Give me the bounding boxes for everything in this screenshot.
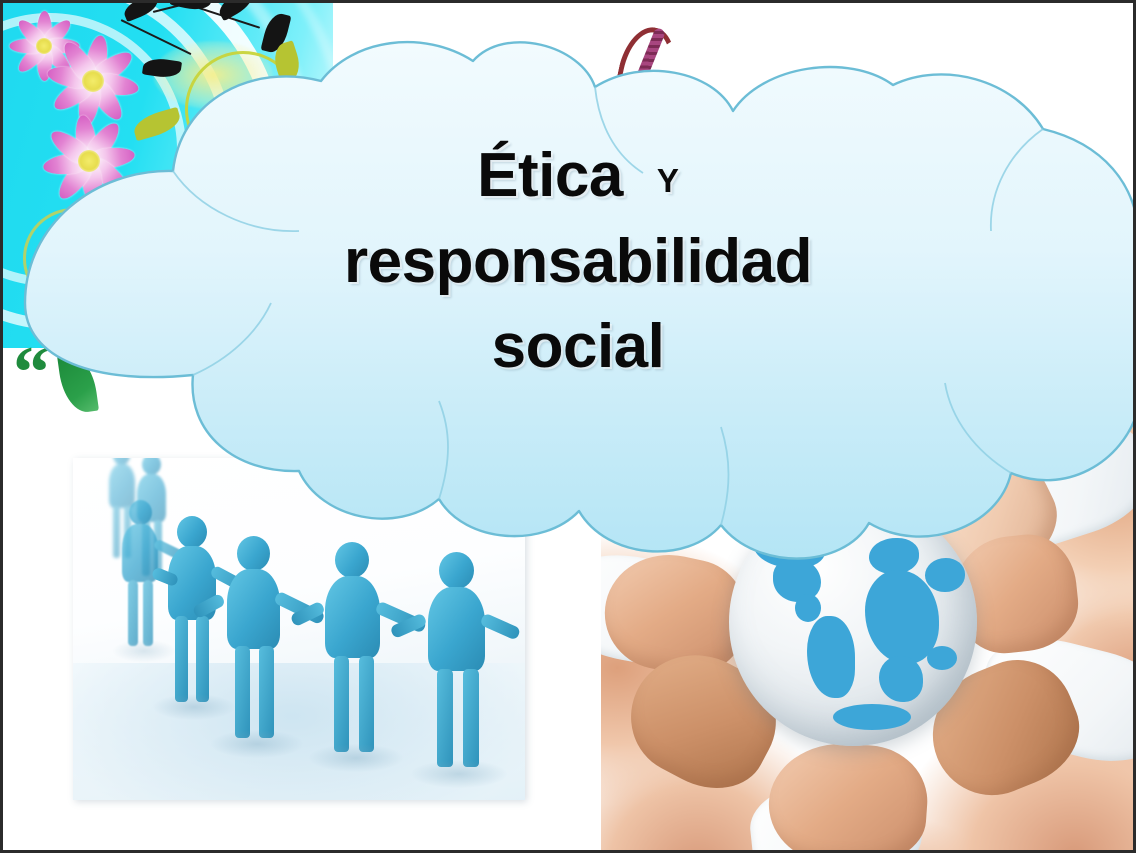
continent-greenland-cap	[849, 508, 867, 520]
continent-asia	[925, 558, 965, 592]
pink-flower-3	[43, 115, 135, 207]
sprig-dot-1	[617, 83, 626, 92]
continent-antarctica	[833, 704, 911, 730]
continent-south-america	[807, 616, 855, 698]
title-conjunction: Y	[657, 162, 679, 199]
title-line-1: ÉticaY	[173, 143, 983, 209]
green-quote-marks: “	[13, 343, 99, 439]
continent-africa-south	[879, 656, 923, 702]
page-title: ÉticaY responsabilidad social	[173, 143, 983, 380]
continent-central-america	[795, 594, 821, 622]
slide-canvas: “	[0, 0, 1136, 853]
continent-madagascar	[927, 646, 957, 670]
quote-glyph: “	[13, 343, 50, 403]
paper-chain-people-photo	[73, 458, 525, 800]
title-line-3: social	[173, 314, 983, 380]
green-leaf-shape	[57, 351, 99, 415]
hands-holding-globe-photo	[601, 408, 1136, 853]
title-word-etica: Ética	[477, 141, 623, 210]
sprig-dot-2	[593, 95, 602, 104]
continent-europe	[869, 538, 919, 574]
globe-sphere	[729, 498, 977, 746]
title-line-2: responsabilidad	[173, 229, 983, 295]
pink-flower-2	[47, 35, 139, 127]
floral-sprig	[615, 21, 705, 99]
